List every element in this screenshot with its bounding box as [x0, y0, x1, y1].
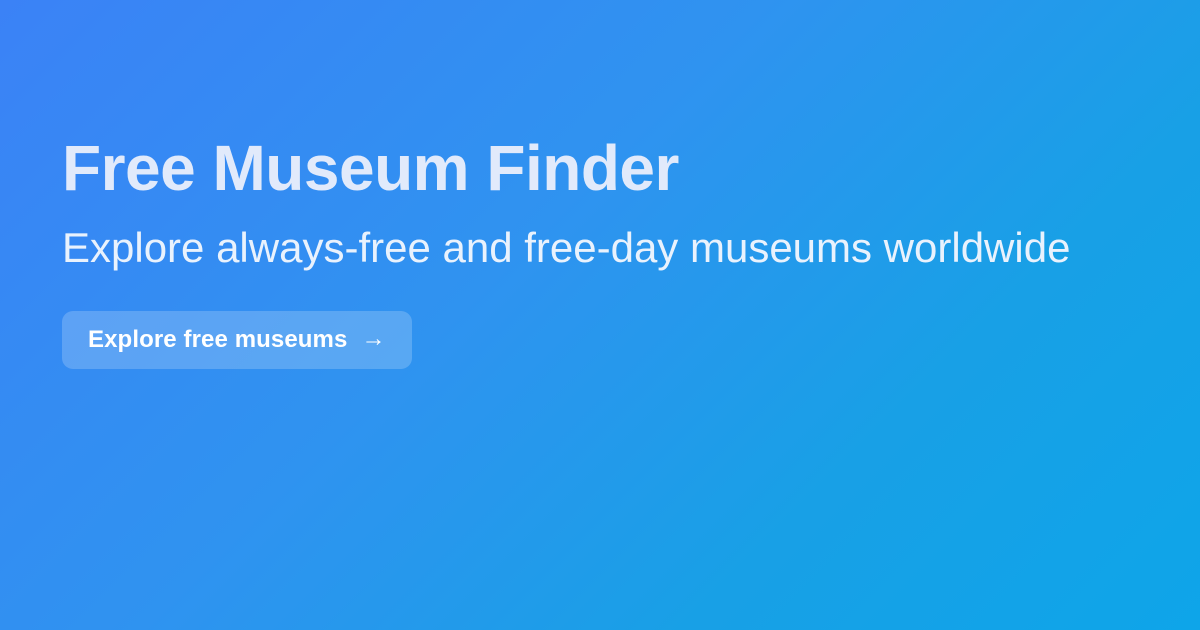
- hero-banner: Free Museum Finder Explore always-free a…: [0, 0, 1200, 630]
- cta-container: Explore free museums →: [62, 271, 1122, 369]
- explore-free-museums-button[interactable]: Explore free museums →: [62, 311, 412, 369]
- cta-button-label: Explore free museums: [88, 328, 347, 352]
- page-subtitle: Explore always-free and free-day museums…: [62, 200, 1122, 271]
- hero-content: Free Museum Finder Explore always-free a…: [62, 136, 1122, 369]
- arrow-right-icon: →: [361, 327, 385, 351]
- page-title: Free Museum Finder: [62, 136, 1122, 200]
